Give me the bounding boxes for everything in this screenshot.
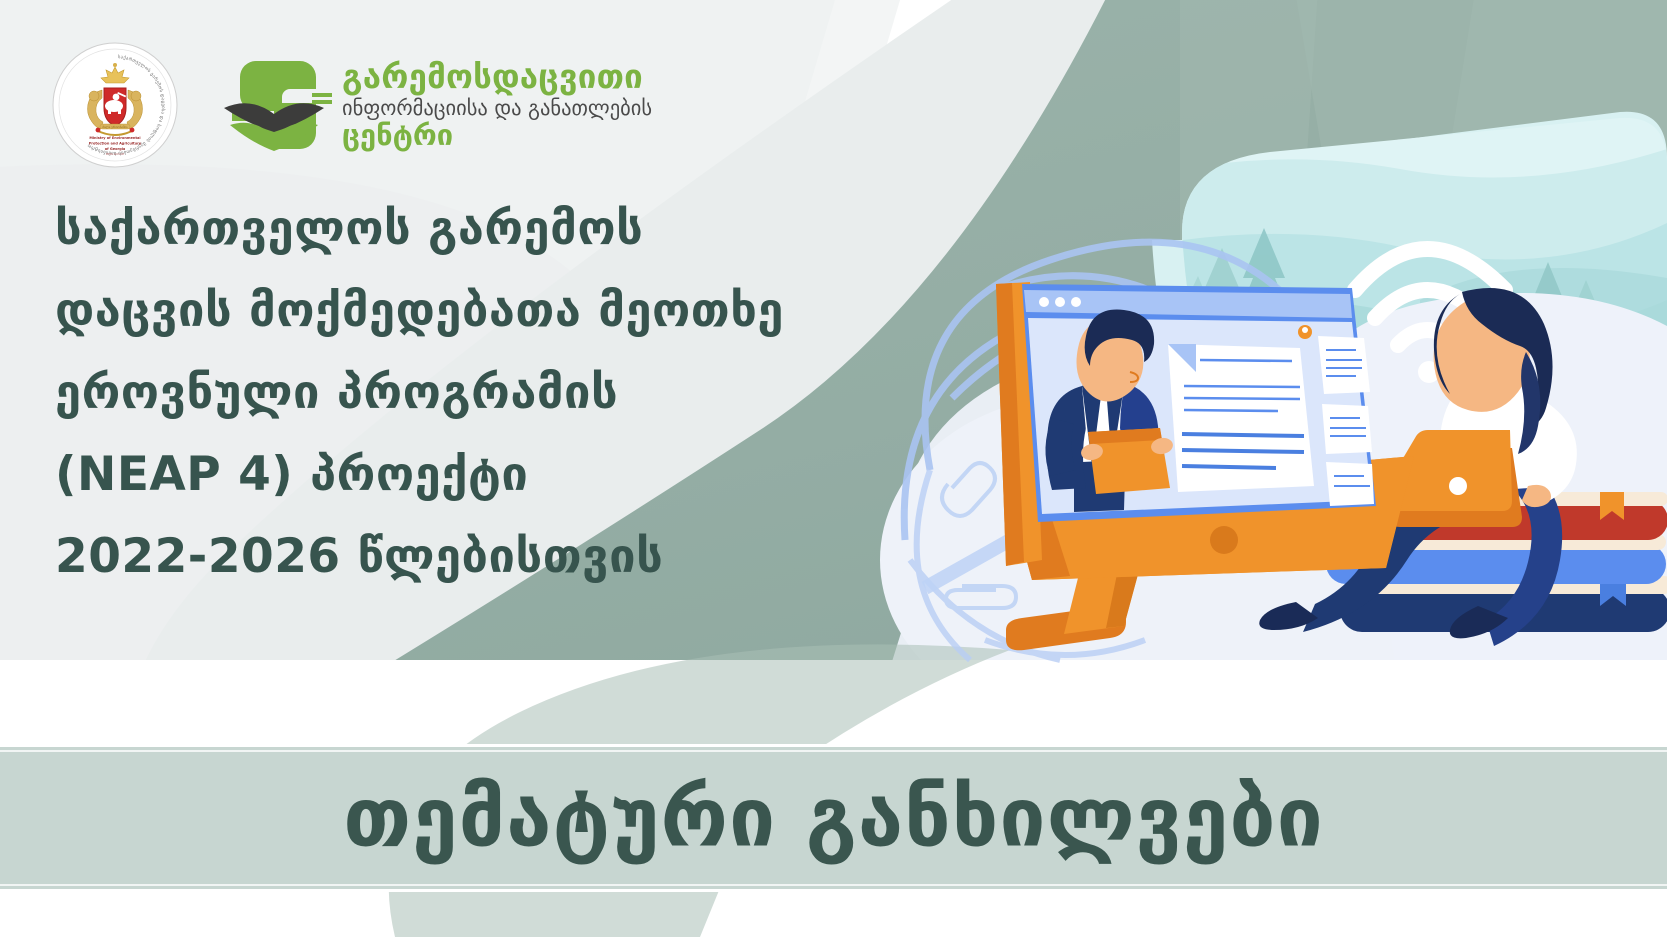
banner-divider-bottom-thin [0,884,1667,886]
title-line-2: დაცვის მოქმედებათა მეოთხე [55,287,755,334]
poster-title: საქართველოს გარემოს დაცვის მოქმედებათა მ… [55,205,755,615]
svg-text:of Georgia: of Georgia [105,147,126,151]
center-logo-line1: გარემოსდაცვითი [342,60,652,93]
title-line-3: ეროვნული პროგრამის [55,369,755,416]
svg-text:ძალა ერთობაშია: ძალა ერთობაშია [102,125,128,129]
center-logo-line3: ცენტრი [342,121,652,150]
banner-divider-top [0,744,1667,747]
banner-divider-bottom [0,889,1667,892]
open-book-logo-icon [224,53,332,157]
svg-text:Ministry of Environmental: Ministry of Environmental [89,136,140,140]
title-line-4: (NEAP 4) პროექტი [55,451,755,498]
header-logos: საქართველოს გარემოს დაცვისა და სოფლის მე… [52,42,652,168]
svg-text:MEPA.GOV.GE: MEPA.GOV.GE [106,152,125,156]
center-logo: გარემოსდაცვითი ინფორმაციისა და განათლები… [224,53,652,157]
title-line-1: საქართველოს გარემოს [55,205,755,252]
banner-title: თემატური განხილვები [0,771,1667,866]
svg-text:Protection and Agriculture: Protection and Agriculture [89,141,142,145]
ministry-seal: საქართველოს გარემოს დაცვისა და სოფლის მე… [52,42,178,168]
center-logo-line2: ინფორმაციისა და განათლების [342,98,652,119]
banner-divider-top-thin [0,750,1667,752]
poster-root: საქართველოს გარემოს დაცვისა და სოფლის მე… [0,0,1667,937]
title-line-5: 2022-2026 წლებისთვის [55,533,755,580]
bottom-banner: თემატური განხილვები [0,744,1667,892]
